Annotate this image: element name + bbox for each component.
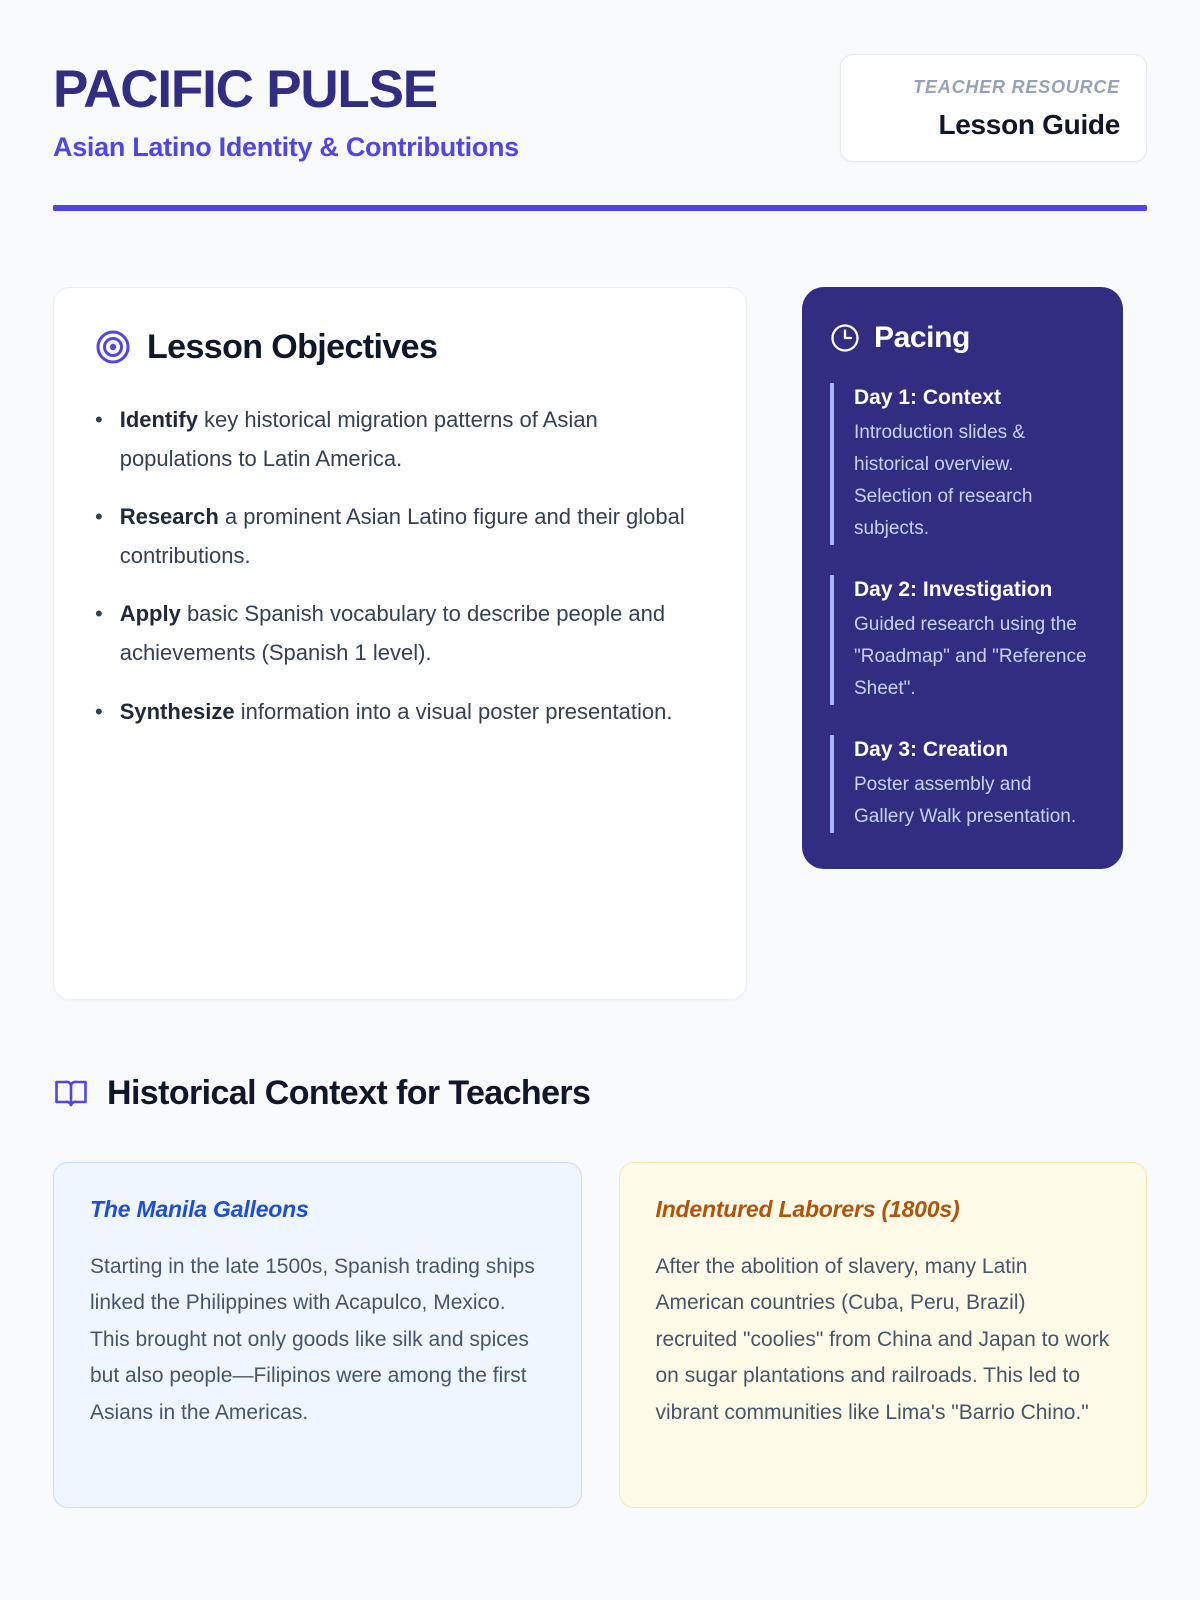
page-subtitle: Asian Latino Identity & Contributions [53, 132, 519, 163]
pacing-day-label: Day 2: Investigation [854, 575, 1095, 605]
header-divider [53, 205, 1147, 211]
lesson-objectives-card: Lesson Objectives • Identify key histori… [53, 287, 747, 1000]
objective-lead: Synthesize [120, 699, 235, 724]
pacing-day-label: Day 3: Creation [854, 735, 1095, 765]
book-open-icon [53, 1075, 89, 1111]
brand-block: PACIFIC PULSE Asian Latino Identity & Co… [53, 54, 519, 163]
page-header: PACIFIC PULSE Asian Latino Identity & Co… [53, 54, 1147, 163]
bullet-glyph: • [95, 594, 103, 672]
objective-rest: information into a visual poster present… [235, 699, 673, 724]
context-card-body: Starting in the late 1500s, Spanish trad… [90, 1249, 545, 1432]
objective-lead: Research [120, 504, 219, 529]
context-card-title: The Manila Galleons [90, 1196, 545, 1223]
objective-text: Research a prominent Asian Latino figure… [120, 497, 705, 575]
lesson-objectives-list: • Identify key historical migration patt… [95, 400, 705, 731]
context-card-body: After the abolition of slavery, many Lat… [656, 1249, 1111, 1432]
objective-item: • Research a prominent Asian Latino figu… [95, 497, 705, 575]
page-title: PACIFIC PULSE [53, 62, 519, 118]
objective-item: • Apply basic Spanish vocabulary to desc… [95, 594, 705, 672]
objective-text: Identify key historical migration patter… [120, 400, 705, 478]
objective-rest: basic Spanish vocabulary to describe peo… [120, 601, 665, 665]
bullet-glyph: • [95, 692, 103, 731]
target-icon [95, 329, 131, 365]
objective-lead: Apply [120, 601, 181, 626]
main-content: Lesson Objectives • Identify key histori… [53, 287, 1147, 1000]
objective-lead: Identify [120, 407, 198, 432]
clock-icon [830, 323, 860, 353]
pacing-title: Pacing [874, 321, 970, 355]
historical-context-grid: The Manila Galleons Starting in the late… [53, 1162, 1147, 1508]
badge-kicker: TEACHER RESOURCE [867, 77, 1120, 98]
objective-item: • Identify key historical migration patt… [95, 400, 705, 478]
objective-item: • Synthesize information into a visual p… [95, 692, 705, 731]
pacing-day-description: Guided research using the "Roadmap" and … [854, 609, 1095, 705]
bullet-glyph: • [95, 497, 103, 575]
teacher-resource-badge: TEACHER RESOURCE Lesson Guide [840, 54, 1147, 162]
badge-title: Lesson Guide [867, 109, 1120, 141]
lesson-objectives-title: Lesson Objectives [147, 328, 437, 367]
pacing-card: Pacing Day 1: Context Introduction slide… [802, 287, 1123, 869]
context-card-indentured-laborers: Indentured Laborers (1800s) After the ab… [619, 1162, 1148, 1508]
context-card-manila-galleons: The Manila Galleons Starting in the late… [53, 1162, 582, 1508]
historical-context-title: Historical Context for Teachers [107, 1074, 590, 1113]
context-card-title: Indentured Laborers (1800s) [656, 1196, 1111, 1223]
pacing-header: Pacing [830, 321, 1095, 355]
lesson-guide-page: PACIFIC PULSE Asian Latino Identity & Co… [0, 0, 1200, 1600]
pacing-item: Day 3: Creation Poster assembly and Gall… [830, 735, 1095, 833]
pacing-item: Day 2: Investigation Guided research usi… [830, 575, 1095, 705]
objective-text: Apply basic Spanish vocabulary to descri… [120, 594, 705, 672]
pacing-item: Day 1: Context Introduction slides & his… [830, 383, 1095, 545]
pacing-day-description: Poster assembly and Gallery Walk present… [854, 769, 1095, 833]
pacing-day-description: Introduction slides & historical overvie… [854, 417, 1095, 545]
objective-text: Synthesize information into a visual pos… [120, 692, 705, 731]
bullet-glyph: • [95, 400, 103, 478]
pacing-day-label: Day 1: Context [854, 383, 1095, 413]
lesson-objectives-header: Lesson Objectives [95, 328, 705, 367]
historical-context-header: Historical Context for Teachers [53, 1074, 1147, 1113]
